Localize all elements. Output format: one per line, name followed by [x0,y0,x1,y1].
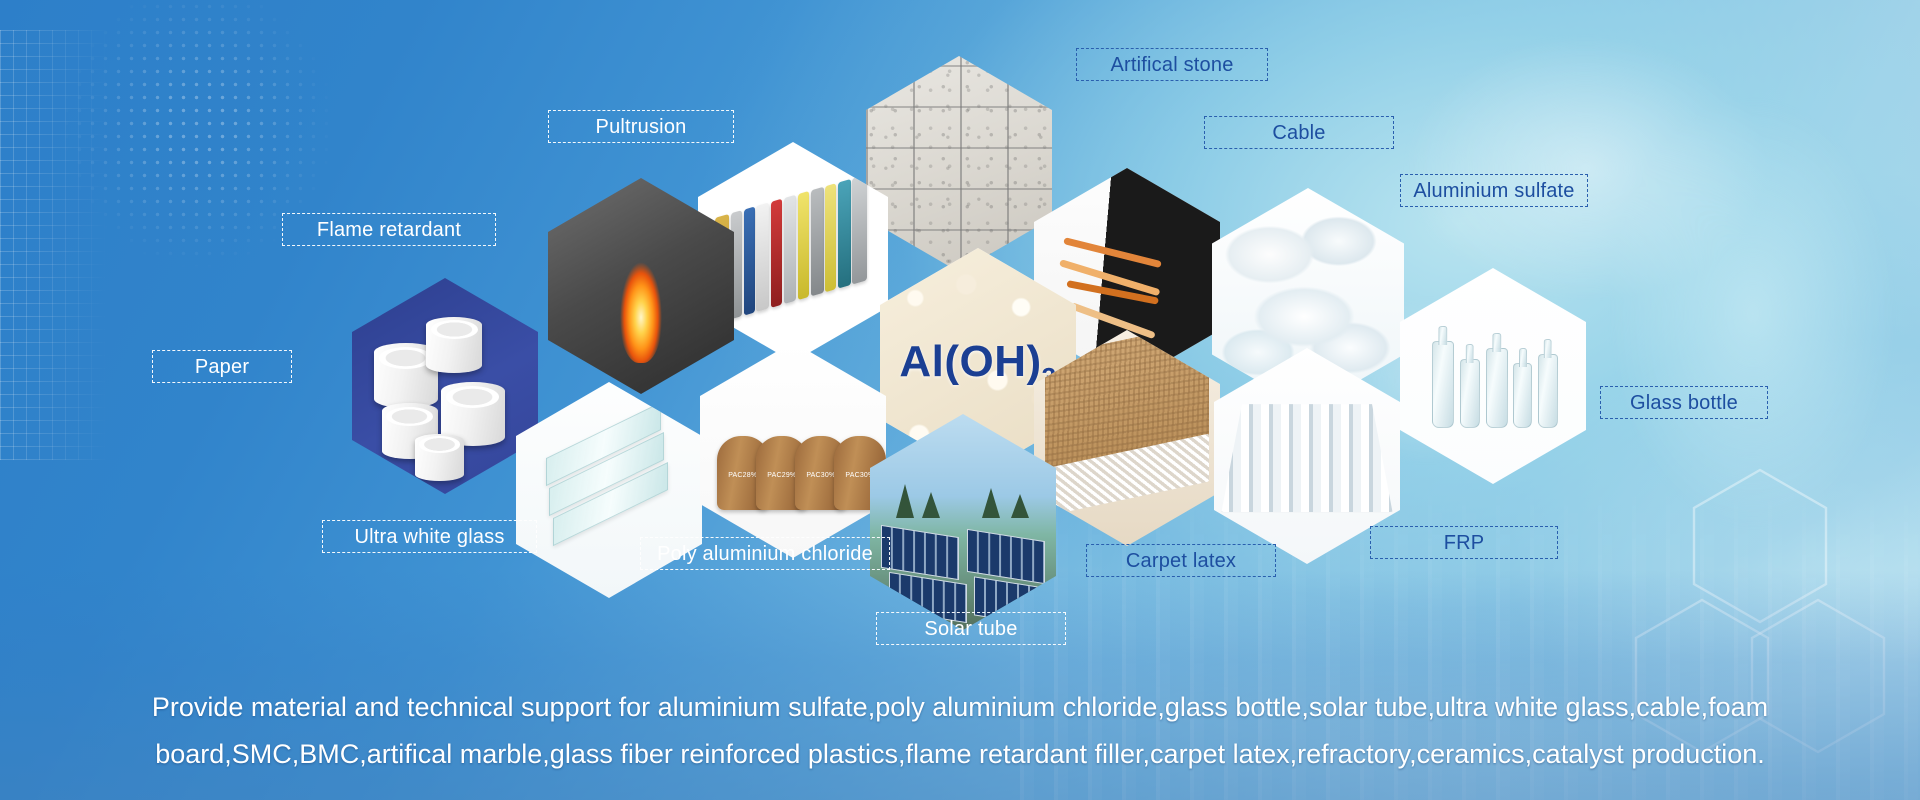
pac-bag-label: PAC30% [806,472,835,479]
footer-line-2: board,SMC,BMC,artifical marble,glass fib… [150,731,1770,778]
pac-bag-label: PAC28% [728,472,757,479]
pac-bag-label: PAC29% [767,472,796,479]
label-artifical-stone[interactable]: Artifical stone [1076,48,1268,81]
formula-main: Al(OH) [899,337,1041,386]
label-frp[interactable]: FRP [1370,526,1558,559]
footer-description: Provide material and technical support f… [0,684,1920,779]
pultruded-profiles-art [715,172,875,323]
label-aluminium-sulfate[interactable]: Aluminium sulfate [1400,174,1588,207]
label-carpet-latex[interactable]: Carpet latex [1086,544,1276,577]
label-poly-aluminium-chloride[interactable]: Poly aluminium chloride [640,537,890,570]
label-glass-bottle[interactable]: Glass bottle [1600,386,1768,419]
label-pultrusion[interactable]: Pultrusion [548,110,734,143]
label-ultra-white-glass[interactable]: Ultra white glass [322,520,537,553]
footer-line-1: Provide material and technical support f… [150,684,1770,731]
label-flame-retardant[interactable]: Flame retardant [282,213,496,246]
label-solar-tube[interactable]: Solar tube [876,612,1066,645]
label-paper[interactable]: Paper [152,350,292,383]
label-cable[interactable]: Cable [1204,116,1394,149]
flame-art [618,243,664,363]
frp-sheet-art [1221,404,1392,512]
